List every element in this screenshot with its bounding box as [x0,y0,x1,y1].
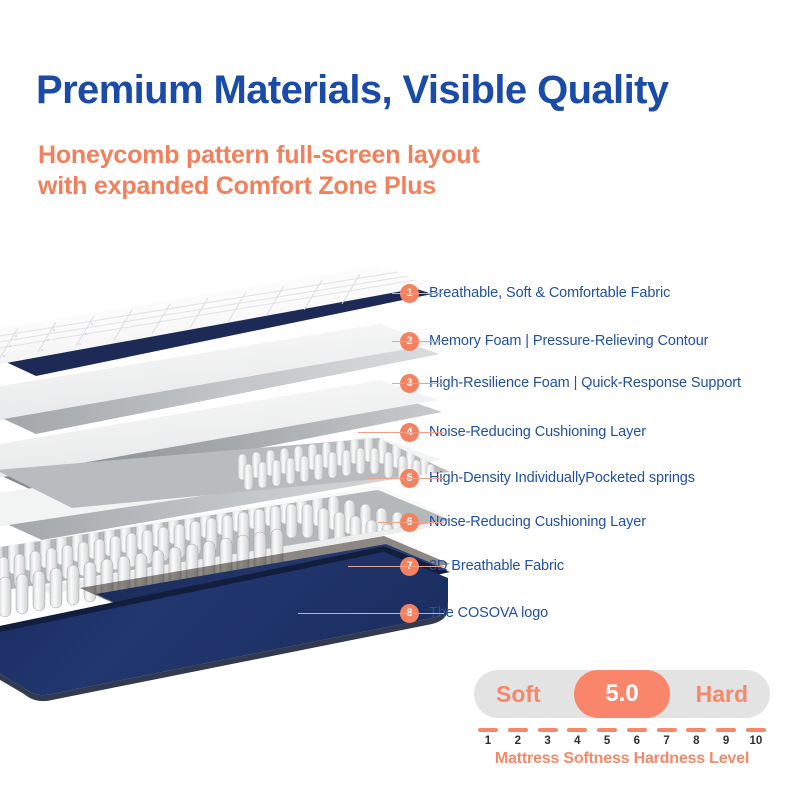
page-subtitle: Honeycomb pattern full-screen layout wit… [38,140,480,202]
leader-line-8 [298,613,444,614]
callout-item-6[interactable]: 6 Noise-Reducing Cushioning Layer [400,512,646,532]
leader-line-4 [358,432,444,433]
firmness-dash [538,728,558,732]
firmness-dash [478,728,498,732]
page-subtitle-line-1: Honeycomb pattern full-screen layout [38,140,480,171]
firmness-tick: 6 [627,735,647,747]
callout-item-2[interactable]: 2 Memory Foam | Pressure-Relieving Conto… [400,331,708,351]
firmness-value-badge: 5.0 [574,670,670,718]
callout-item-5[interactable]: 5 High-Density IndividuallyPocketed spri… [400,468,695,488]
firmness-dash [567,728,587,732]
callout-label-8: The COSOVA logo [429,605,548,621]
firmness-tick: 10 [746,735,766,747]
firmness-dash [746,728,766,732]
callout-item-4[interactable]: 4 Noise-Reducing Cushioning Layer [400,422,646,442]
callout-item-1[interactable]: 1 Breathable, Soft & Comfortable Fabric [400,283,670,303]
leader-line-3 [392,383,444,384]
firmness-dash [657,728,677,732]
firmness-tick: 5 [597,735,617,747]
firmness-tick: 3 [538,735,558,747]
firmness-soft-label: Soft [496,681,541,708]
callout-item-8[interactable]: 8 The COSOVA logo [400,603,548,623]
mattress-illustration: cosova [0,258,450,718]
callout-label-5: High-Density IndividuallyPocketed spring… [429,470,695,486]
leader-line-7 [348,566,444,567]
firmness-dash [508,728,528,732]
firmness-dash [686,728,706,732]
leader-line-2 [392,341,444,342]
firmness-caption: Mattress Softness Hardness Level [474,750,770,768]
firmness-tick: 7 [657,735,677,747]
firmness-tick: 8 [686,735,706,747]
firmness-tick: 1 [478,735,498,747]
firmness-track[interactable]: Soft Hard 5.0 [474,670,770,718]
leader-line-6 [378,522,444,523]
firmness-scale-widget[interactable]: Soft Hard 5.0 1 2 3 4 5 6 7 8 9 10 [474,670,770,768]
firmness-dash [627,728,647,732]
callout-label-2: Memory Foam | Pressure-Relieving Contour [429,333,708,349]
firmness-tick: 4 [567,735,587,747]
callout-label-7: 3D Breathable Fabric [429,558,564,574]
callout-label-6: Noise-Reducing Cushioning Layer [429,514,646,530]
leader-line-5 [368,478,444,479]
callout-item-7[interactable]: 7 3D Breathable Fabric [400,556,564,576]
page-subtitle-line-2: with expanded Comfort Zone Plus [38,171,480,202]
callout-item-3[interactable]: 3 High-Resilience Foam | Quick-Response … [400,373,741,393]
callout-label-3: High-Resilience Foam | Quick-Response Su… [429,375,741,391]
firmness-dash [716,728,736,732]
page-title: Premium Materials, Visible Quality [36,68,668,113]
product-infographic: Premium Materials, Visible Quality Honey… [0,0,800,800]
firmness-tick: 2 [508,735,528,747]
firmness-tick: 9 [716,735,736,747]
firmness-dash-row [474,728,770,732]
callout-label-1: Breathable, Soft & Comfortable Fabric [429,285,670,301]
leader-line-1 [392,293,444,294]
firmness-dash [597,728,617,732]
firmness-hard-label: Hard [696,681,748,708]
callout-label-4: Noise-Reducing Cushioning Layer [429,424,646,440]
firmness-tick-row: 1 2 3 4 5 6 7 8 9 10 [474,735,770,747]
